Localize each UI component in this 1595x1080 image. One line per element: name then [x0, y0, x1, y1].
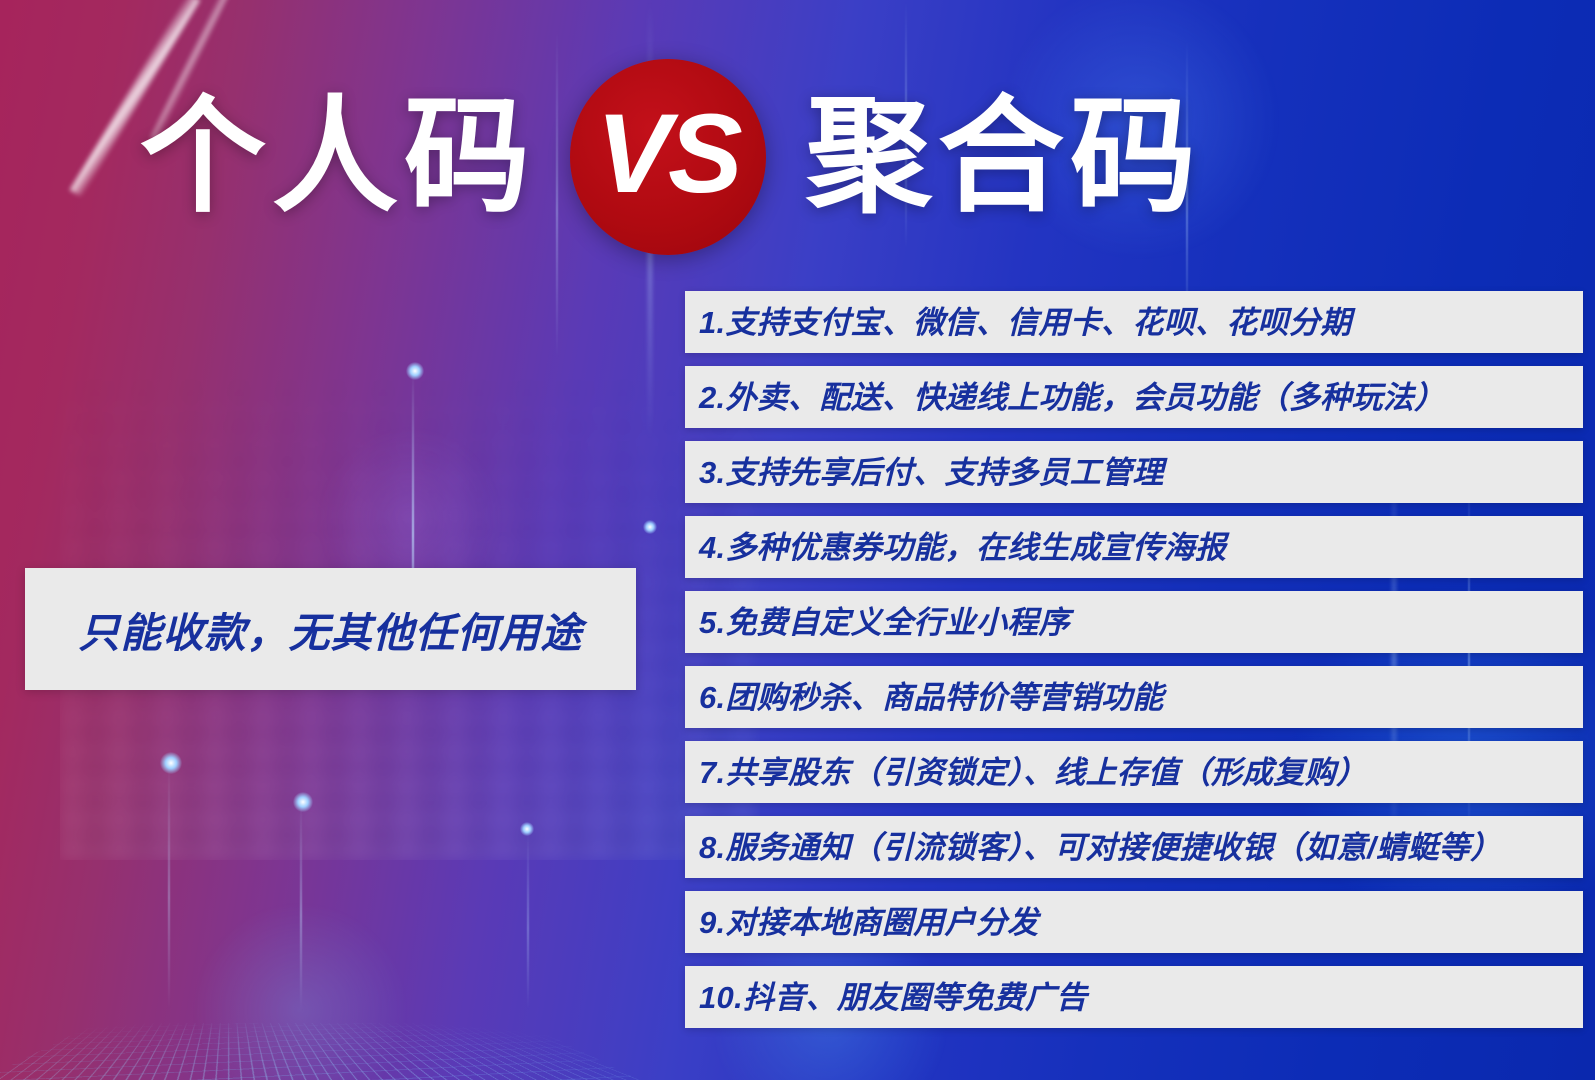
left-title-personal-code: 个人码: [140, 94, 536, 220]
feature-row: 1.支持支付宝、微信、信用卡、花呗、花呗分期: [685, 291, 1583, 353]
feature-text: 1.支持支付宝、微信、信用卡、花呗、花呗分期: [699, 307, 1351, 338]
poster-canvas: 个人码 VS 聚合码 只能收款，无其他任何用途 1.支持支付宝、微信、信用卡、花…: [0, 0, 1595, 1080]
feature-list: 1.支持支付宝、微信、信用卡、花呗、花呗分期 2.外卖、配送、快递线上功能，会员…: [685, 291, 1583, 1028]
left-callout-text: 只能收款，无其他任何用途: [79, 599, 583, 659]
feature-text: 4.多种优惠券功能，在线生成宣传海报: [699, 532, 1226, 563]
feature-text: 3.支持先享后付、支持多员工管理: [699, 457, 1164, 488]
feature-row: 7.共享股东（引资锁定）、线上存值（形成复购）: [685, 741, 1583, 803]
light-beam-icon: [527, 830, 529, 1010]
feature-text: 10.抖音、朋友圈等免费广告: [699, 982, 1087, 1013]
feature-row: 9.对接本地商圈用户分发: [685, 891, 1583, 953]
light-spark-icon: [160, 752, 182, 774]
right-title-aggregate-code: 聚合码: [806, 94, 1202, 220]
feature-text: 6.团购秒杀、商品特价等营销功能: [699, 682, 1164, 713]
headline-row: 个人码 VS 聚合码: [0, 62, 1440, 252]
light-beam-icon: [300, 800, 302, 1010]
feature-text: 2.外卖、配送、快递线上功能，会员功能（多种玩法）: [699, 382, 1445, 413]
feature-text: 7.共享股东（引资锁定）、线上存值（形成复购）: [699, 757, 1367, 788]
feature-text: 9.对接本地商圈用户分发: [699, 907, 1038, 938]
left-callout-panel: 只能收款，无其他任何用途: [25, 568, 636, 690]
feature-row: 6.团购秒杀、商品特价等营销功能: [685, 666, 1583, 728]
vs-label: VS: [596, 98, 739, 210]
light-beam-icon: [168, 760, 170, 1010]
light-spark-icon: [643, 520, 657, 534]
light-spark-icon: [293, 792, 313, 812]
light-spark-icon: [520, 822, 534, 836]
feature-row: 10.抖音、朋友圈等免费广告: [685, 966, 1583, 1028]
feature-row: 4.多种优惠券功能，在线生成宣传海报: [685, 516, 1583, 578]
feature-row: 5.免费自定义全行业小程序: [685, 591, 1583, 653]
feature-row: 8.服务通知（引流锁客）、可对接便捷收银（如意/蜻蜓等）: [685, 816, 1583, 878]
feature-text: 5.免费自定义全行业小程序: [699, 607, 1070, 638]
vs-badge: VS: [570, 59, 766, 255]
light-spark-icon: [406, 362, 424, 380]
feature-text: 8.服务通知（引流锁客）、可对接便捷收银（如意/蜻蜓等）: [699, 832, 1501, 863]
feature-row: 2.外卖、配送、快递线上功能，会员功能（多种玩法）: [685, 366, 1583, 428]
feature-row: 3.支持先享后付、支持多员工管理: [685, 441, 1583, 503]
